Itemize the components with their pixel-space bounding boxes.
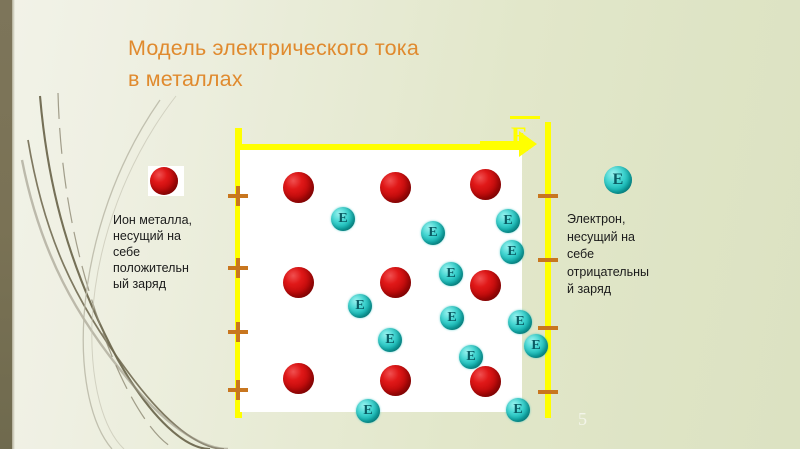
electron-particle: E [496, 209, 520, 233]
negative-plate-icon [538, 326, 558, 330]
electric-field-vector: E [497, 108, 567, 170]
metal-ion-particle [283, 172, 314, 203]
page-number: 5 [578, 409, 587, 430]
electron-particle: E [421, 221, 445, 245]
metal-ion-particle [380, 365, 411, 396]
electron-particle: E [440, 306, 464, 330]
page-title: Модель электрического тока в металлах [128, 33, 548, 95]
metal-ion-particle [380, 172, 411, 203]
electron-particle: E [378, 328, 402, 352]
positive-plate-icon [236, 186, 240, 206]
negative-plate-icon [538, 258, 558, 262]
metal-ion-particle [283, 267, 314, 298]
electron-particle: E [439, 262, 463, 286]
negative-plate-icon [538, 390, 558, 394]
legend-electron-text: Электрон, несущий на себе отрицательны й… [567, 211, 687, 299]
electron-particle: E [331, 207, 355, 231]
electron-particle: E [348, 294, 372, 318]
electron-particle: E [356, 399, 380, 423]
electron-particle: E [524, 334, 548, 358]
metal-ion-particle [380, 267, 411, 298]
slide-canvas: Модель электрического тока в металлах EE… [0, 0, 800, 449]
metal-ion-particle [470, 366, 501, 397]
metal-ion-particle [283, 363, 314, 394]
legend-ion-icon [150, 167, 178, 195]
electron-particle: E [500, 240, 524, 264]
field-vector-overline [510, 116, 540, 119]
positive-plate-icon [236, 380, 240, 400]
electron-particle: E [508, 310, 532, 334]
metal-ion-particle [470, 169, 501, 200]
negative-plate-icon [538, 194, 558, 198]
legend-electron-icon: E [604, 166, 632, 194]
positive-plate-icon [236, 322, 240, 342]
electron-particle: E [506, 398, 530, 422]
positive-plate-icon [236, 258, 240, 278]
field-label: E [511, 124, 528, 149]
electron-particle: E [459, 345, 483, 369]
metal-ion-particle [470, 270, 501, 301]
legend-ion-text: Ион металла, несущий на себе положительн… [113, 212, 225, 292]
